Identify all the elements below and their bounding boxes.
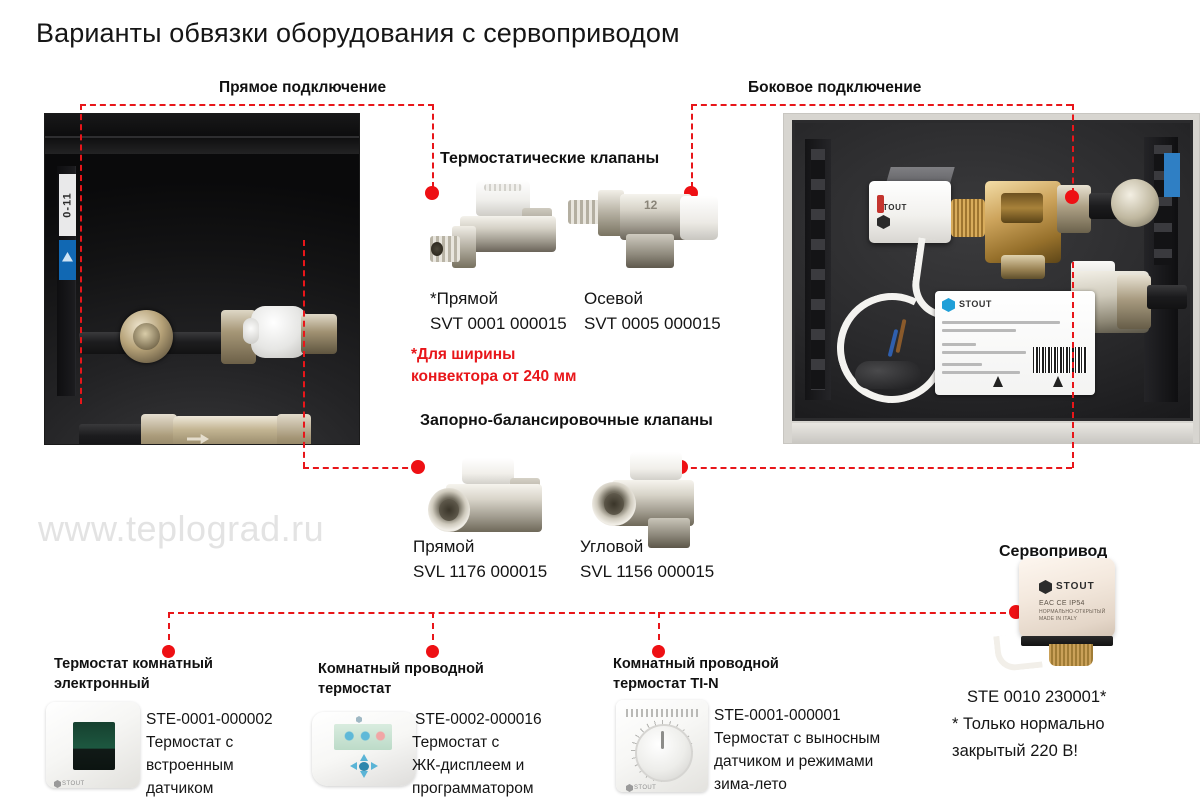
round-valve xyxy=(1111,179,1159,227)
up-arrow-icon-left xyxy=(993,376,1003,387)
valve-bore xyxy=(431,242,443,256)
upper-tail-piece xyxy=(301,314,337,354)
thermostat-3-desc-line3: зима-лето xyxy=(714,773,787,796)
svt-straight-code: SVT 0001 000015 xyxy=(430,313,567,335)
connector-right-photo-drop xyxy=(1072,262,1074,468)
svt-angle-name: Осевой xyxy=(584,288,643,310)
thermostatic-note-line1: *Для ширины xyxy=(411,344,515,366)
connector-dot-photo-right xyxy=(1065,190,1079,204)
stout-hex-icon xyxy=(1039,580,1052,594)
valve-union-ring xyxy=(592,482,636,526)
cabinet-bottom-rail xyxy=(792,423,1193,443)
label-hex-icon xyxy=(942,298,955,312)
valve-cap xyxy=(630,452,682,480)
servo-housing: STOUT EAC CE IP54 НОРМАЛЬНО-ОТКРЫТЫЙ MAD… xyxy=(1019,558,1115,638)
valve-branch xyxy=(626,234,674,268)
svt-straight-name: *Прямой xyxy=(430,288,498,310)
connector-dot-thermostat-2 xyxy=(426,645,439,658)
upper-white-knob xyxy=(251,306,307,358)
photo-direct-connection: 0-11 xyxy=(44,113,360,445)
thermostat-2-desc-line2: ЖК-дисплеем и xyxy=(412,754,524,777)
pad-left-icon xyxy=(350,762,357,770)
valve-size-marking: 12 xyxy=(644,198,657,212)
brass-valve-nut xyxy=(1001,255,1045,279)
product-image-thermostat-1: STOUT xyxy=(46,702,142,794)
svl-straight-code: SVL 1176 000015 xyxy=(413,561,547,583)
connector-side-right-drop xyxy=(1072,104,1074,194)
caption-thermostatic-valves: Термостатические клапаны xyxy=(440,150,659,168)
servo-note-line1: * Только нормально xyxy=(952,712,1105,737)
lower-union-nut xyxy=(141,414,177,445)
page-title: Варианты обвязки оборудования с сервопри… xyxy=(36,18,680,49)
thermostat-1-code: STE-0001-000002 xyxy=(146,708,273,731)
cabinet-blue-tag xyxy=(1164,153,1180,197)
product-image-svt-angle: 12 xyxy=(568,172,718,290)
thermostat-3-desc-line2: датчиком и режимами xyxy=(714,750,873,773)
connector-dot-svl-straight xyxy=(411,460,425,474)
servo-brand: STOUT xyxy=(1056,581,1095,592)
cabinet-frame: STOUT STOUT xyxy=(792,120,1193,421)
label-line-serial xyxy=(942,371,1020,374)
upper-round-valve xyxy=(120,310,173,363)
svt-angle-code: SVT 0005 000015 xyxy=(584,313,721,335)
photo-side-connection: STOUT STOUT xyxy=(783,113,1200,444)
pad-right-icon xyxy=(371,762,378,770)
label-line-serial-title xyxy=(942,363,982,366)
caption-side-connection: Боковое подключение xyxy=(748,79,921,97)
pad-center-icon xyxy=(359,762,369,771)
caption-balancing-valves: Запорно-балансировочные клапаны xyxy=(420,412,713,430)
connector-direct-left-drop xyxy=(80,104,82,404)
thermostat-1-desc-line3: датчиком xyxy=(146,777,213,800)
thermostat-2-title-line1: Комнатный проводной xyxy=(318,659,484,680)
valve-union-ring xyxy=(428,488,470,532)
thermostat-1-title-line2: электронный xyxy=(54,674,150,695)
connector-bottom-bus xyxy=(168,612,1016,614)
connector-side-top xyxy=(691,104,1072,106)
product-image-svt-straight xyxy=(430,178,566,286)
pad-down-icon xyxy=(360,771,368,778)
product-image-servo: STOUT EAC CE IP54 НОРМАЛЬНО-ОТКРЫТЫЙ MAD… xyxy=(1013,558,1133,670)
thermostat-1-title-line1: Термостат комнатный xyxy=(54,654,213,675)
svl-angle-code: SVL 1156 000015 xyxy=(580,561,714,583)
angle-valve-pipe xyxy=(1147,285,1187,309)
servo-note-line2: закрытый 220 В! xyxy=(952,739,1078,764)
thermostat-2-code: STE-0002-000016 xyxy=(415,708,542,731)
thermostat-2-desc-line3: программатором xyxy=(412,777,534,800)
thermostat-3-code: STE-0001-000001 xyxy=(714,704,841,727)
pad-up-icon xyxy=(360,754,368,761)
servo-code: STE 0010 230001* xyxy=(967,685,1106,710)
servo-badge-line2: НОРМАЛЬНО-ОТКРЫТЫЙ xyxy=(1039,609,1105,615)
product-image-thermostat-3: STOUT xyxy=(616,700,712,796)
connector-direct-top xyxy=(80,104,434,106)
connector-to-svl-straight xyxy=(303,467,418,469)
cabinet-tag-blue xyxy=(59,240,76,280)
label-line-article-title xyxy=(942,343,976,346)
servo-indicator xyxy=(877,195,884,213)
connector-direct-right-drop xyxy=(432,104,434,188)
label-line-sub xyxy=(942,329,1016,332)
label-line-article xyxy=(942,351,1026,354)
cabinet-tag: 0-11 xyxy=(59,174,76,236)
lower-tee-nut xyxy=(277,414,311,445)
product-image-thermostat-2 xyxy=(312,708,418,792)
barcode xyxy=(1033,347,1087,373)
cabinet-top-rail xyxy=(45,114,359,154)
valve-thread xyxy=(568,200,602,224)
watermark: www.teplograd.ru xyxy=(38,508,324,550)
navigation-pad xyxy=(350,754,378,778)
cabinet-tag-text: 0-11 xyxy=(62,192,74,217)
servo-badge-line3: MADE IN ITALY xyxy=(1039,616,1077,622)
thermostat-3-title-line2: термостат TI-N xyxy=(613,674,719,695)
thermostat-brand: STOUT xyxy=(634,785,656,791)
thermostat-1-desc-line1: Термостат с xyxy=(146,731,233,754)
thermostat-vents xyxy=(626,709,698,717)
thermostat-display xyxy=(334,724,392,750)
valve-cap xyxy=(462,458,514,484)
lower-tee-body xyxy=(173,416,289,445)
thermostat-3-title-line1: Комнатный проводной xyxy=(613,654,779,675)
thermostat-3-desc-line1: Термостат с выносным xyxy=(714,727,880,750)
label-brand: STOUT xyxy=(959,299,992,309)
cabinet-left-rail xyxy=(805,139,831,400)
thermostat-2-title-line2: термостат xyxy=(318,679,391,700)
caption-direct-connection: Прямое подключение xyxy=(219,79,386,97)
stout-hex-icon xyxy=(877,215,890,229)
up-arrow-icon-right xyxy=(1053,376,1063,387)
thermostat-2-desc-line1: Термостат с xyxy=(412,731,499,754)
connector-to-svl-angle xyxy=(681,467,1072,469)
angle-valve-nut xyxy=(1117,275,1151,329)
lower-pipe xyxy=(79,424,149,445)
servo-brass-nut xyxy=(1049,644,1093,666)
svl-straight-name: Прямой xyxy=(413,536,474,558)
valve-branch xyxy=(648,518,690,548)
thermostat-brand: STOUT xyxy=(62,781,85,787)
valve-cap xyxy=(680,196,718,240)
cable-gland xyxy=(855,361,921,389)
product-label: STOUT xyxy=(935,291,1095,395)
thermostat-1-desc-line2: встроенным xyxy=(146,754,234,777)
svl-angle-name: Угловой xyxy=(580,536,643,558)
temperature-dial xyxy=(635,724,693,782)
brass-coupler xyxy=(951,199,985,237)
brass-valve-port xyxy=(1001,193,1043,223)
thermostat-display xyxy=(73,722,115,770)
connector-left-photo-drop xyxy=(303,240,305,468)
servo-badge-line1: EAC CE IP54 xyxy=(1039,600,1085,607)
label-line-product xyxy=(942,321,1060,324)
thermostatic-note-line2: конвектора от 240 мм xyxy=(411,366,576,388)
